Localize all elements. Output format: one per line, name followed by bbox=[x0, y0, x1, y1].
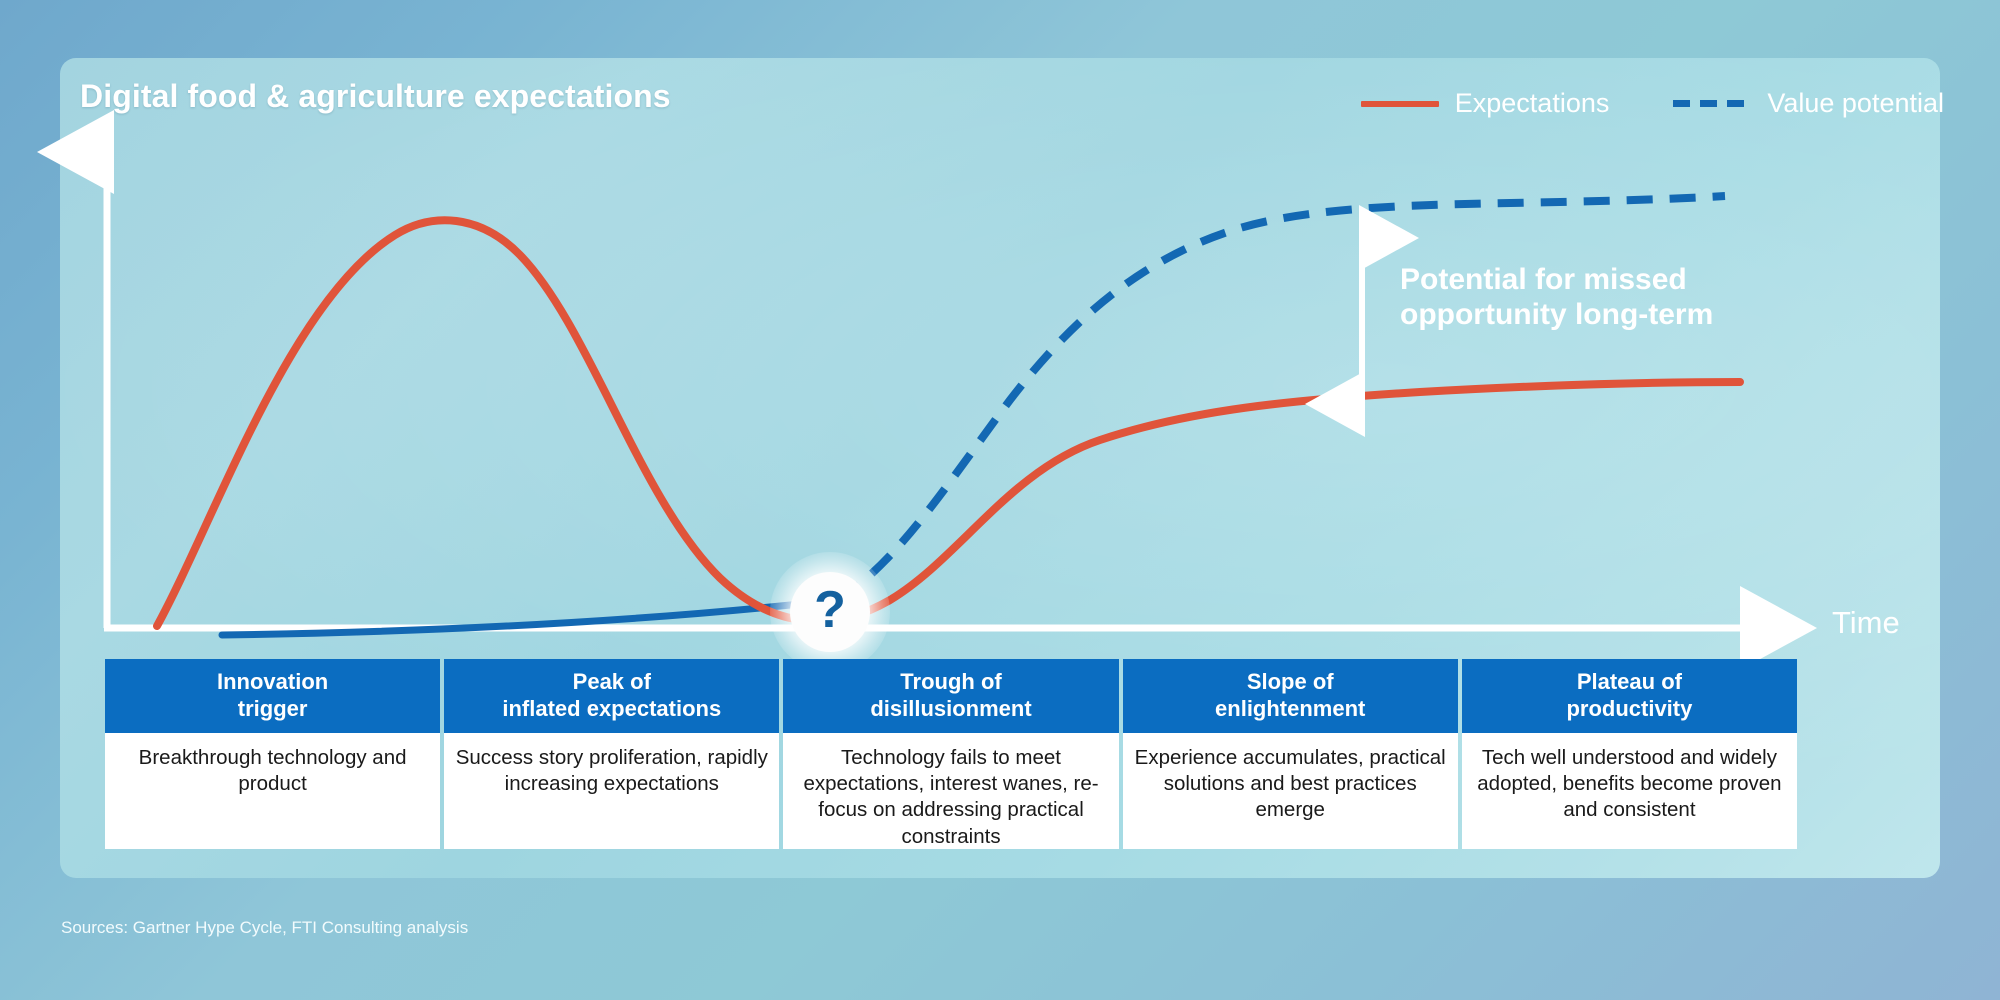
stage-header-line-2: trigger bbox=[238, 696, 308, 721]
sources-note: Sources: Gartner Hype Cycle, FTI Consult… bbox=[61, 918, 468, 938]
stage-body: Experience accumulates, practical soluti… bbox=[1123, 733, 1458, 849]
stage-column-peak-of-inflated-expectations[interactable]: Peak of inflated expectations Success st… bbox=[444, 659, 779, 849]
stage-body: Tech well understood and widely adopted,… bbox=[1462, 733, 1797, 849]
stage-column-plateau-of-productivity[interactable]: Plateau of productivity Tech well unders… bbox=[1462, 659, 1797, 849]
question-mark-icon: ? bbox=[814, 584, 846, 636]
missed-opportunity-annotation: Potential for missed opportunity long-te… bbox=[1400, 262, 1800, 333]
stage-header-line-1: Slope of bbox=[1247, 669, 1334, 694]
x-axis-label: Time bbox=[1832, 605, 1900, 641]
annotation-line-1: Potential for missed bbox=[1400, 262, 1800, 297]
stage-body: Technology fails to meet expectations, i… bbox=[783, 733, 1118, 849]
stage-body: Breakthrough technology and product bbox=[105, 733, 440, 849]
stage-column-slope-of-enlightenment[interactable]: Slope of enlightenment Experience accumu… bbox=[1123, 659, 1458, 849]
stage-column-innovation-trigger[interactable]: Innovation trigger Breakthrough technolo… bbox=[105, 659, 440, 849]
stage-header-line-1: Plateau of bbox=[1577, 669, 1682, 694]
stage-header: Plateau of productivity bbox=[1462, 659, 1797, 733]
stage-column-trough-of-disillusionment[interactable]: Trough of disillusionment Technology fai… bbox=[783, 659, 1118, 849]
stage-header-line-1: Innovation bbox=[217, 669, 328, 694]
stage-header: Innovation trigger bbox=[105, 659, 440, 733]
stage-header-line-2: enlightenment bbox=[1215, 696, 1365, 721]
stage-header-line-2: inflated expectations bbox=[502, 696, 721, 721]
stage-body: Success story proliferation, rapidly inc… bbox=[444, 733, 779, 849]
stage-header: Trough of disillusionment bbox=[783, 659, 1118, 733]
stage-header-line-2: productivity bbox=[1566, 696, 1692, 721]
stage-header: Peak of inflated expectations bbox=[444, 659, 779, 733]
hype-cycle-plot bbox=[0, 0, 2000, 1000]
uncertainty-marker[interactable]: ? bbox=[770, 552, 890, 672]
stage-header-line-2: disillusionment bbox=[870, 696, 1031, 721]
annotation-line-2: opportunity long-term bbox=[1400, 297, 1800, 332]
stage-header-line-1: Peak of bbox=[573, 669, 651, 694]
marker-disc: ? bbox=[790, 572, 870, 652]
stage-header-line-1: Trough of bbox=[900, 669, 1001, 694]
stage-table: Innovation trigger Breakthrough technolo… bbox=[105, 659, 1797, 849]
stage-header: Slope of enlightenment bbox=[1123, 659, 1458, 733]
value-potential-curve bbox=[838, 196, 1725, 600]
